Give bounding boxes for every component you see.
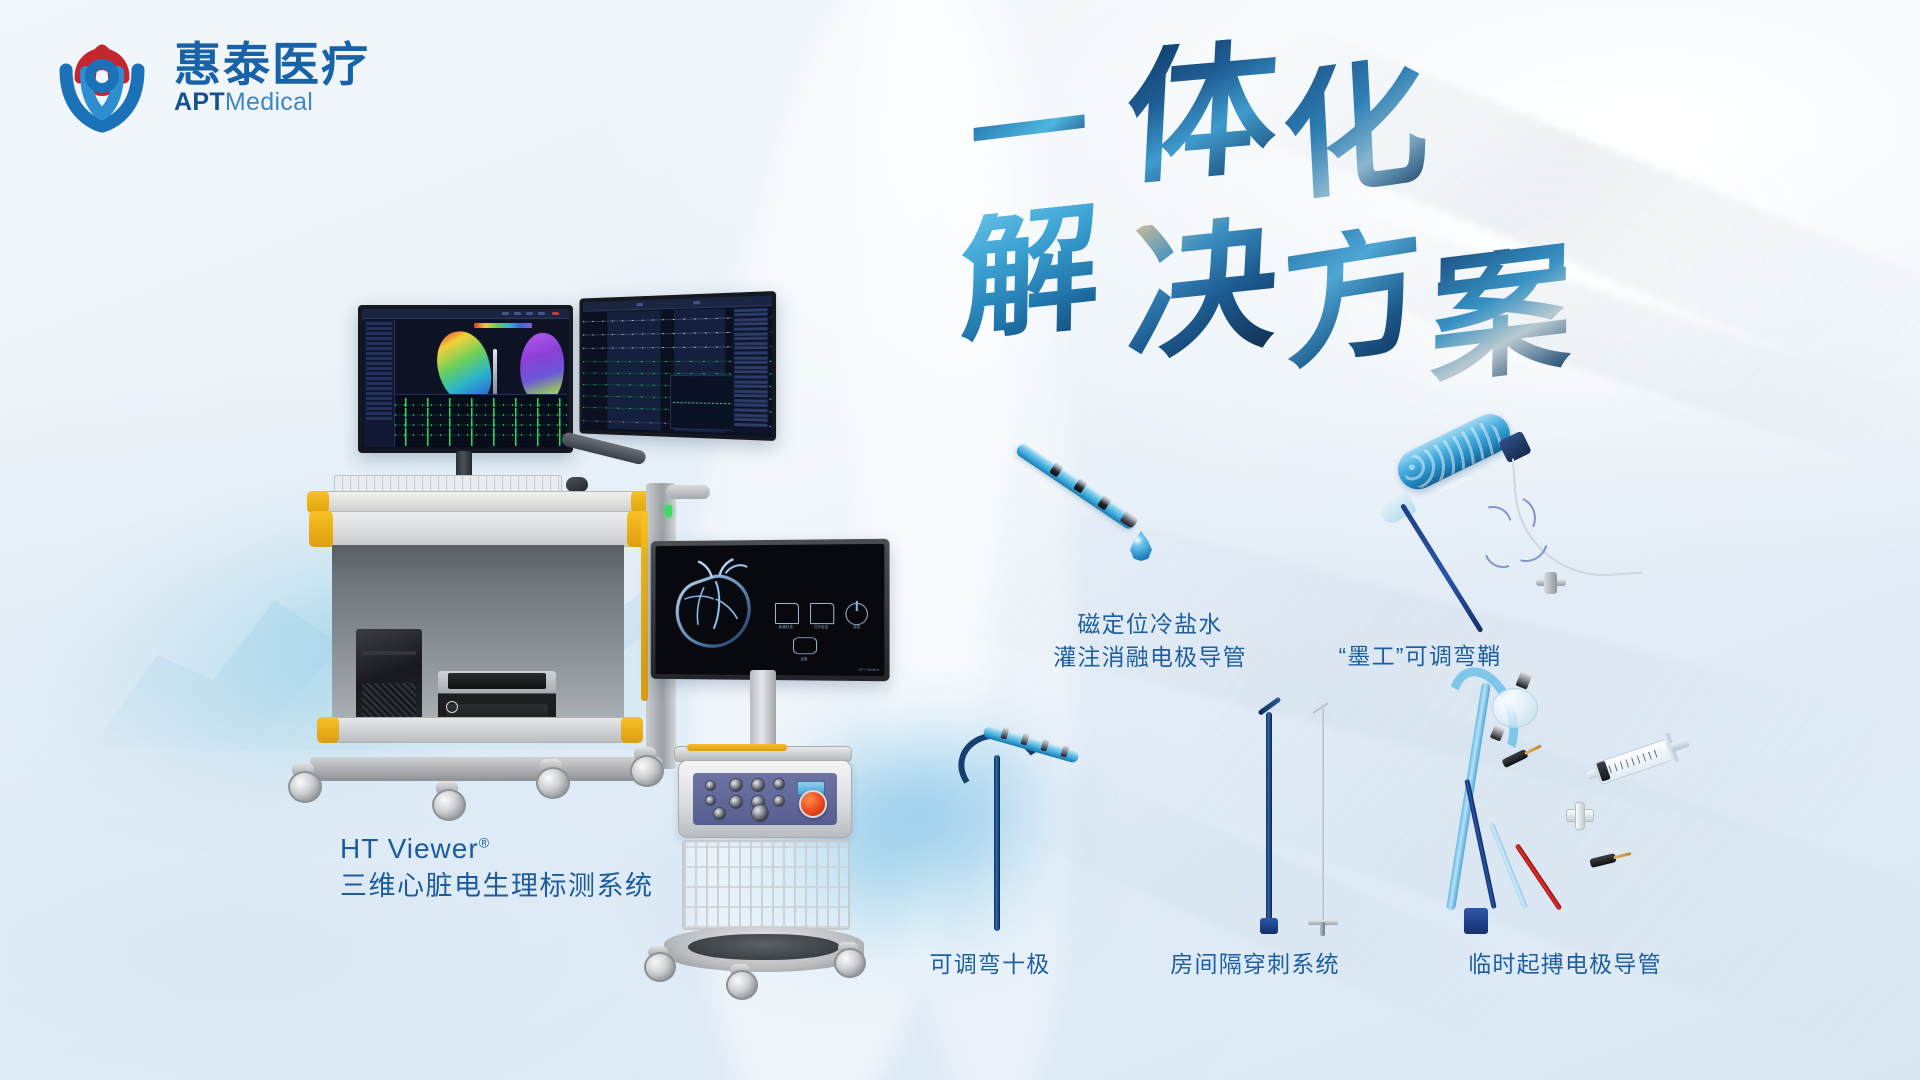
monitor-bezel (583, 295, 772, 436)
display-screen[interactable]: 新建检查 打开检查 关机 设置 APT Medical (656, 544, 885, 676)
display-cart-pole (750, 670, 776, 748)
headline-char: 化 (1279, 52, 1430, 204)
caster-wheel (644, 946, 672, 978)
headline-char: 一 (970, 73, 1089, 194)
caster-wheel (288, 763, 318, 799)
monitor-arm (560, 431, 647, 465)
steerable-sheath-icon: APT Medical (1390, 430, 1680, 630)
open-folder-label: 打开检查 (804, 624, 838, 629)
caster-wheel (726, 964, 754, 996)
mouse[interactable] (566, 477, 588, 492)
brand-logo-text: 惠泰医疗 APTMedical (174, 41, 370, 115)
monitor-bezel (362, 309, 569, 449)
deflection-arrows-icon (1474, 496, 1566, 574)
caster-wheel (536, 759, 566, 795)
recording-monitor (579, 291, 776, 441)
steerable-decapolar-catheter-icon (940, 715, 1100, 930)
cart-worktop (314, 511, 646, 547)
screen-watermark: APT Medical (858, 668, 879, 672)
cart-bottom-shelf (320, 717, 640, 743)
screen-action-icons: 新建检查 打开检查 关机 设置 (775, 603, 868, 660)
signal-list-panel (364, 320, 395, 447)
ecg-trace-panel (395, 394, 567, 447)
apt-medical-heart-loop-logo-icon (46, 22, 158, 134)
headline-char: 方 (1279, 218, 1428, 371)
brand-name-en-light: Medical (225, 88, 313, 116)
balloon-tip (1492, 688, 1538, 728)
poster-canvas: 惠泰医疗 APTMedical 一 体 化 解 决 方 案 (0, 0, 1920, 1080)
mapping-monitor (358, 305, 573, 453)
open-folder-icon[interactable]: 打开检查 (810, 603, 832, 622)
syringe-icon (1583, 729, 1691, 791)
stimulator-generator-box (678, 760, 852, 838)
heart-illustration-icon (665, 555, 775, 657)
brand-logo[interactable]: 惠泰医疗 APTMedical (46, 22, 370, 134)
storage-basket (682, 840, 850, 930)
stopcock-icon (1562, 802, 1596, 828)
settings-label: 设置 (787, 656, 821, 661)
product-label-ablation-catheter: 磁定位冷盐水 灌注消融电极导管 (1020, 608, 1280, 673)
pin-connector (1589, 853, 1616, 868)
ht-viewer-description: 三维心脏电生理标测系统 (340, 868, 654, 906)
touch-display[interactable]: 新建检查 打开检查 关机 设置 APT Medical (651, 539, 890, 682)
measurement-table (732, 306, 769, 434)
product-label-decapolar: 可调弯十极 (900, 948, 1080, 981)
transseptal-puncture-system-icon (1230, 690, 1360, 930)
generator-front-panel (693, 773, 837, 825)
ht-viewer-name: HT Viewer® (340, 830, 654, 868)
voltage-color-legend (474, 323, 532, 328)
brand-name-en-bold: APT (174, 88, 225, 116)
ep-recording-waveform-view (583, 295, 772, 436)
caster-wheel (432, 781, 462, 817)
emergency-stop-button[interactable] (799, 790, 827, 818)
ht-viewer-caption: HT Viewer® 三维心脏电生理标测系统 (340, 830, 654, 906)
new-study-label: 新建检查 (769, 624, 803, 629)
app-toolbar (362, 309, 569, 319)
cart-cabinet (314, 511, 644, 757)
power-status-led (665, 505, 672, 517)
brand-name-cn: 惠泰医疗 (174, 41, 370, 88)
headline-calligraphy: 一 体 化 解 决 方 案 (960, 44, 1660, 364)
timing-band (607, 310, 660, 430)
irrigated-ablation-catheter-icon (1000, 435, 1190, 635)
trademark-symbol: ® (479, 835, 490, 851)
headline-char: 解 (959, 202, 1100, 344)
headline-char: 决 (1125, 211, 1281, 363)
temporary-pacing-catheter-icon (1440, 670, 1730, 940)
ht-viewer-product-name: HT Viewer (340, 833, 479, 864)
power-icon[interactable]: 关机 (845, 603, 867, 622)
caster-wheel (834, 942, 862, 974)
cart-base (310, 757, 662, 781)
3d-cardiac-mapping-view (362, 309, 569, 449)
settings-icon[interactable]: 设置 (793, 635, 815, 654)
headline-char: 案 (1429, 241, 1572, 387)
product-label-pacing-catheter: 临时起搏电极导管 (1440, 948, 1690, 981)
cart-push-handle[interactable] (666, 485, 710, 499)
keyboard-tray (314, 491, 646, 513)
product-label-transseptal: 房间隔穿刺系统 (1150, 948, 1360, 981)
brand-name-en: APTMedical (174, 90, 370, 115)
power-label: 关机 (839, 624, 874, 629)
headline-char: 体 (1123, 35, 1282, 186)
catheter-hub (1464, 908, 1488, 934)
product-label-steerable-sheath: “墨工”可调弯鞘 (1300, 640, 1540, 673)
new-study-icon[interactable]: 新建检查 (775, 603, 797, 622)
